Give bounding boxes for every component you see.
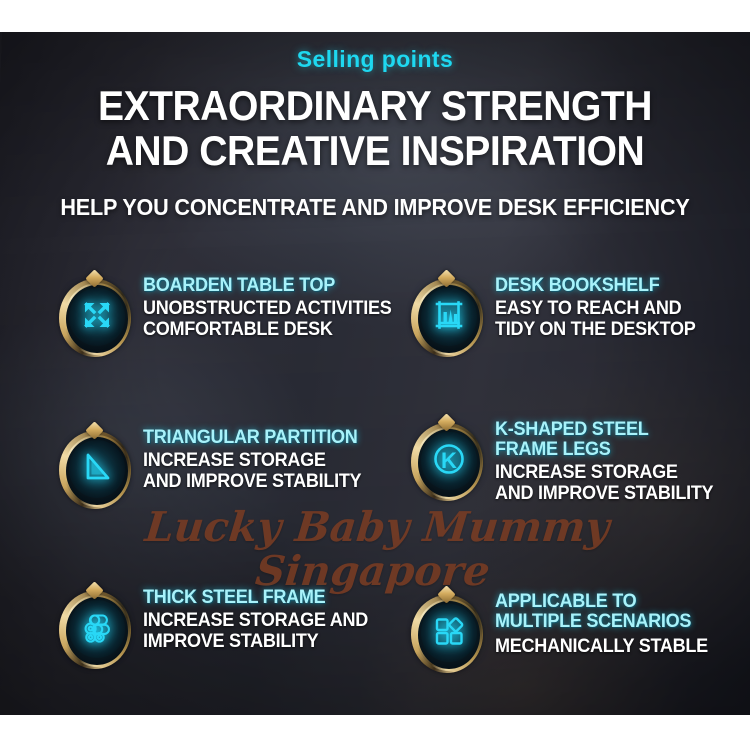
feature-item-k-shaped-frame-legs: K K-SHAPED STEEL FRAME LEGS INCREASE STO… xyxy=(408,412,750,504)
feature-title: THICK STEEL FRAME xyxy=(143,588,368,608)
feature-item-boarden-table-top: BOARDEN TABLE TOP UNOBSTRUCTED ACTIVITIE… xyxy=(56,268,416,358)
promo-poster: Selling points EXTRAORDINARY STRENGTH AN… xyxy=(0,0,750,750)
feature-desc-line-1: INCREASE STORAGE xyxy=(495,462,713,483)
badge-disc xyxy=(69,288,125,346)
feature-title: DESK BOOKSHELF xyxy=(495,276,696,296)
svg-text:K: K xyxy=(441,448,457,473)
feature-title-line-1: K-SHAPED STEEL xyxy=(495,420,713,440)
feature-title: BOARDEN TABLE TOP xyxy=(143,276,391,296)
feature-title-line-2: FRAME LEGS xyxy=(495,440,713,460)
headline-line-2: AND CREATIVE INSPIRATION xyxy=(26,128,724,173)
page-title: EXTRAORDINARY STRENGTH AND CREATIVE INSP… xyxy=(26,83,724,173)
feature-description: MECHANICALLY STABLE xyxy=(495,636,708,657)
headline-line-1: EXTRAORDINARY STRENGTH xyxy=(26,83,724,128)
feature-desc-line-2: IMPROVE STABILITY xyxy=(143,631,368,652)
feature-item-desk-bookshelf: DESK BOOKSHELF EASY TO REACH AND TIDY ON… xyxy=(408,268,750,358)
badge-disc xyxy=(69,600,125,658)
triangle-partition-icon xyxy=(81,451,113,488)
four-shapes-icon xyxy=(433,615,465,652)
feature-title: K-SHAPED STEEL FRAME LEGS xyxy=(495,420,713,460)
poster-header: Selling points EXTRAORDINARY STRENGTH AN… xyxy=(0,32,750,221)
feature-text: K-SHAPED STEEL FRAME LEGS INCREASE STORA… xyxy=(495,412,725,504)
feature-desc-line-1: INCREASE STORAGE AND xyxy=(143,610,368,631)
feature-description: UNOBSTRUCTED ACTIVITIES COMFORTABLE DESK xyxy=(143,298,391,340)
feature-text: APPLICABLE TO MULTIPLE SCENARIOS MECHANI… xyxy=(495,584,719,657)
feature-grid: BOARDEN TABLE TOP UNOBSTRUCTED ACTIVITIE… xyxy=(0,262,750,702)
feature-description: EASY TO REACH AND TIDY ON THE DESKTOP xyxy=(495,298,696,340)
feature-description: INCREASE STORAGE AND IMPROVE STABILITY xyxy=(495,462,713,504)
feature-item-thick-steel-frame: THICK STEEL FRAME INCREASE STORAGE AND I… xyxy=(56,580,416,670)
feature-text: BOARDEN TABLE TOP UNOBSTRUCTED ACTIVITIE… xyxy=(143,268,405,340)
letter-k-icon: K xyxy=(433,443,465,480)
feature-desc-line-1: UNOBSTRUCTED ACTIVITIES xyxy=(143,298,391,319)
feature-text: TRIANGULAR PARTITION INCREASE STORAGE AN… xyxy=(143,420,373,492)
feature-text: THICK STEEL FRAME INCREASE STORAGE AND I… xyxy=(143,580,380,652)
badge-disc: K xyxy=(421,432,477,490)
feature-description: INCREASE STORAGE AND IMPROVE STABILITY xyxy=(143,610,368,652)
feature-item-triangular-partition: TRIANGULAR PARTITION INCREASE STORAGE AN… xyxy=(56,420,416,510)
steel-tubes-icon xyxy=(81,611,113,648)
feature-badge xyxy=(408,270,484,358)
feature-badge: K xyxy=(408,414,484,502)
badge-disc xyxy=(421,288,477,346)
feature-desc-line-2: AND IMPROVE STABILITY xyxy=(495,483,713,504)
page-subtitle: HELP YOU CONCENTRATE AND IMPROVE DESK EF… xyxy=(23,194,728,221)
feature-badge xyxy=(56,582,132,670)
feature-item-multiple-scenarios: APPLICABLE TO MULTIPLE SCENARIOS MECHANI… xyxy=(408,584,750,674)
bookshelf-icon xyxy=(433,299,465,336)
feature-desc-line-1: INCREASE STORAGE xyxy=(143,450,361,471)
badge-disc xyxy=(421,604,477,662)
feature-description: INCREASE STORAGE AND IMPROVE STABILITY xyxy=(143,450,361,492)
feature-badge xyxy=(56,422,132,510)
feature-desc-line-2: COMFORTABLE DESK xyxy=(143,319,391,340)
feature-badge xyxy=(408,586,484,674)
badge-disc xyxy=(69,440,125,498)
expand-arrows-icon xyxy=(81,299,113,336)
feature-title: APPLICABLE TO MULTIPLE SCENARIOS xyxy=(495,592,708,632)
feature-desc-line-1: EASY TO REACH AND xyxy=(495,298,696,319)
feature-desc-line-2: AND IMPROVE STABILITY xyxy=(143,471,361,492)
feature-text: DESK BOOKSHELF EASY TO REACH AND TIDY ON… xyxy=(495,268,706,340)
feature-badge xyxy=(56,270,132,358)
feature-title-line-2: MULTIPLE SCENARIOS xyxy=(495,612,708,632)
eyebrow-label: Selling points xyxy=(0,46,750,73)
feature-title: TRIANGULAR PARTITION xyxy=(143,428,361,448)
feature-desc-line-1: MECHANICALLY STABLE xyxy=(495,636,708,657)
feature-title-line-1: APPLICABLE TO xyxy=(495,592,708,612)
feature-desc-line-2: TIDY ON THE DESKTOP xyxy=(495,319,696,340)
